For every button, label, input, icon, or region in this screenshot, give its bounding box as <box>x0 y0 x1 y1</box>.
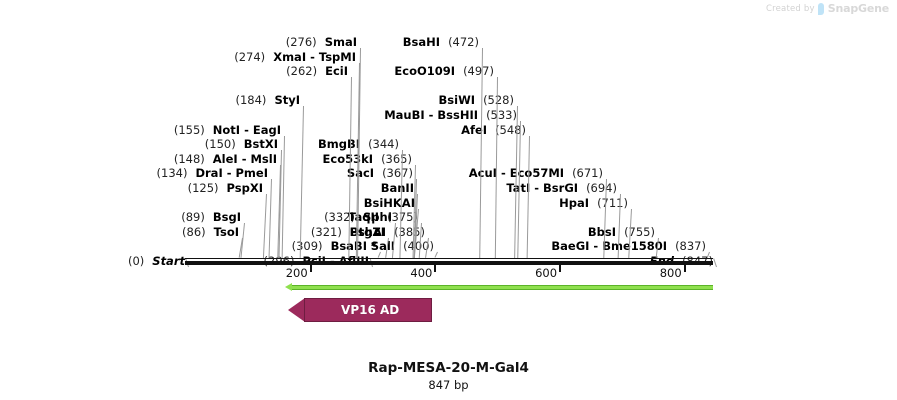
enzyme-name: SalI <box>371 239 395 253</box>
enzyme-label-bsabi[interactable]: (309) BsaBI * <box>292 240 377 253</box>
enzyme-label-bsiwi[interactable]: BsiWI (528) <box>439 94 514 107</box>
enzyme-position: (150) <box>205 137 236 151</box>
enzyme-name: Start <box>152 254 185 268</box>
leader-line <box>269 179 272 258</box>
enzyme-position: (274) <box>234 50 265 64</box>
enzyme-name: AleI - MslI <box>213 152 277 166</box>
enzyme-name: TatI - BsrGI <box>506 181 578 195</box>
enzyme-position: (837) <box>675 239 706 253</box>
enzyme-name: PspXI <box>227 181 263 195</box>
enzyme-position: (125) <box>188 181 219 195</box>
enzyme-name: Eco53kI <box>323 152 374 166</box>
enzyme-name: HpaI <box>559 196 589 210</box>
enzyme-name: BsiWI <box>439 93 476 107</box>
sequence-backbone <box>185 261 713 265</box>
enzyme-position: (134) <box>157 166 188 180</box>
enzyme-name: SacI <box>347 166 374 180</box>
enzyme-position: (671) <box>572 166 603 180</box>
leader-line <box>713 258 717 267</box>
enzyme-label-banii[interactable]: BanII <box>381 182 414 195</box>
enzyme-label-bsihkai[interactable]: BsiHKAI <box>364 197 415 210</box>
enzyme-name: BsiHKAI <box>364 196 415 210</box>
enzyme-label-bsahi[interactable]: BsaHI (472) <box>403 36 479 49</box>
enzyme-label-bstxi[interactable]: (150) BstXI <box>205 138 278 151</box>
enzyme-label-bsgi[interactable]: (89) BsgI <box>181 211 241 224</box>
enzyme-name: BstXI <box>244 137 278 151</box>
enzyme-name: SmaI <box>325 35 357 49</box>
enzyme-name: BsgI <box>213 210 241 224</box>
ruler-tick-label: 600 <box>535 266 559 280</box>
enzyme-name: PshAI <box>350 225 386 239</box>
enzyme-position: (365) <box>381 152 412 166</box>
enzyme-name: NotI - EagI <box>213 123 281 137</box>
enzyme-name: BmgBI <box>318 137 360 151</box>
enzyme-name: DraI - PmeI <box>195 166 268 180</box>
enzyme-name: BsaHI <box>403 35 440 49</box>
enzyme-position: (276) <box>286 35 317 49</box>
enzyme-position: (344) <box>368 137 399 151</box>
enzyme-position: (694) <box>586 181 617 195</box>
enzyme-label-drai[interactable]: (134) DraI - PmeI <box>157 167 268 180</box>
enzyme-name: StyI <box>274 93 300 107</box>
ruler-tick <box>310 265 312 272</box>
leader-line <box>263 194 267 258</box>
enzyme-label-eco53ki[interactable]: Eco53kI (365) <box>323 153 412 166</box>
ruler-tick-label: 400 <box>410 266 434 280</box>
enzyme-position: (89) <box>181 210 205 224</box>
snapgene-watermark: Created by SnapGene <box>766 2 889 15</box>
enzyme-label-start[interactable]: (0) Start <box>128 255 185 268</box>
leader-line <box>527 136 530 258</box>
enzyme-label-bbsi[interactable]: BbsI (755) <box>588 226 655 239</box>
enzyme-label-styi[interactable]: (184) StyI <box>235 94 300 107</box>
page-title: Rap-MESA-20-M-Gal4 <box>0 360 897 376</box>
enzyme-position: (86) <box>182 225 206 239</box>
enzyme-position: (472) <box>448 35 479 49</box>
watermark-brand: SnapGene <box>828 2 889 15</box>
enzyme-label-acui[interactable]: AcuI - Eco57MI (671) <box>469 167 603 180</box>
enzyme-name: BaeGI - Bme1580I <box>551 239 667 253</box>
enzyme-label-ecii[interactable]: (262) EciI <box>286 65 348 78</box>
feature-arrow[interactable]: VP16 AD <box>288 298 433 322</box>
enzyme-position: (309) <box>292 239 323 253</box>
enzyme-name: BbsI <box>588 225 616 239</box>
enzyme-name: MauBI - BssHII <box>384 108 478 122</box>
enzyme-name: XmaI - TspMI <box>273 50 356 64</box>
leader-line <box>240 223 245 258</box>
snapgene-logo-icon <box>818 3 825 15</box>
enzyme-position: (184) <box>235 93 266 107</box>
enzyme-position: (148) <box>174 152 205 166</box>
enzyme-name: AfeI <box>461 123 487 137</box>
enzyme-label-smai[interactable]: (276) SmaI <box>286 36 357 49</box>
ruler-tick <box>434 265 436 272</box>
ruler-tick <box>559 265 561 272</box>
feature-label: VP16 AD <box>288 298 433 322</box>
enzyme-name: EcoO109I <box>394 64 455 78</box>
enzyme-name: EciI <box>325 64 348 78</box>
enzyme-position: (533) <box>486 108 517 122</box>
enzyme-position: (0) <box>128 254 144 268</box>
enzyme-label-noti[interactable]: (155) NotI - EagI <box>174 124 281 137</box>
ruler-tick-label: 200 <box>286 266 310 280</box>
enzyme-label-alei[interactable]: (148) AleI - MslI <box>174 153 277 166</box>
plasmid-map: Created by SnapGene (0) Start(86) TsoI(8… <box>0 0 897 400</box>
enzyme-position: (497) <box>463 64 494 78</box>
sequence-length: 847 bp <box>0 378 897 392</box>
enzyme-name: BanII <box>381 181 414 195</box>
ruler-tick <box>684 265 686 272</box>
orf-line[interactable] <box>291 285 713 290</box>
enzyme-label-tati[interactable]: TatI - BsrGI (694) <box>506 182 617 195</box>
leader-line <box>282 136 285 258</box>
enzyme-position: (711) <box>597 196 628 210</box>
enzyme-position: (321) <box>311 225 342 239</box>
enzyme-position: (155) <box>174 123 205 137</box>
sequence-backbone-top <box>185 258 713 259</box>
leader-line <box>479 48 483 258</box>
enzyme-label-xmai[interactable]: (274) XmaI - TspMI <box>234 51 356 64</box>
enzyme-label-ecoo109i[interactable]: EcoO109I (497) <box>394 65 494 78</box>
enzyme-label-pspxi[interactable]: (125) PspXI <box>188 182 263 195</box>
enzyme-label-tsoi[interactable]: (86) TsoI <box>182 226 239 239</box>
enzyme-position: (548) <box>495 123 526 137</box>
leader-line <box>300 106 304 258</box>
ruler-tick-label: 800 <box>660 266 684 280</box>
watermark-created-by: Created by <box>766 4 815 14</box>
enzyme-position: (262) <box>286 64 317 78</box>
enzyme-position: (367) <box>382 166 413 180</box>
orf-arrowhead-left-icon <box>285 283 292 291</box>
enzyme-position: (528) <box>483 93 514 107</box>
enzyme-label-hpai[interactable]: HpaI (711) <box>559 197 628 210</box>
enzyme-name: TsoI <box>214 225 239 239</box>
enzyme-name: TaqII <box>348 210 379 224</box>
